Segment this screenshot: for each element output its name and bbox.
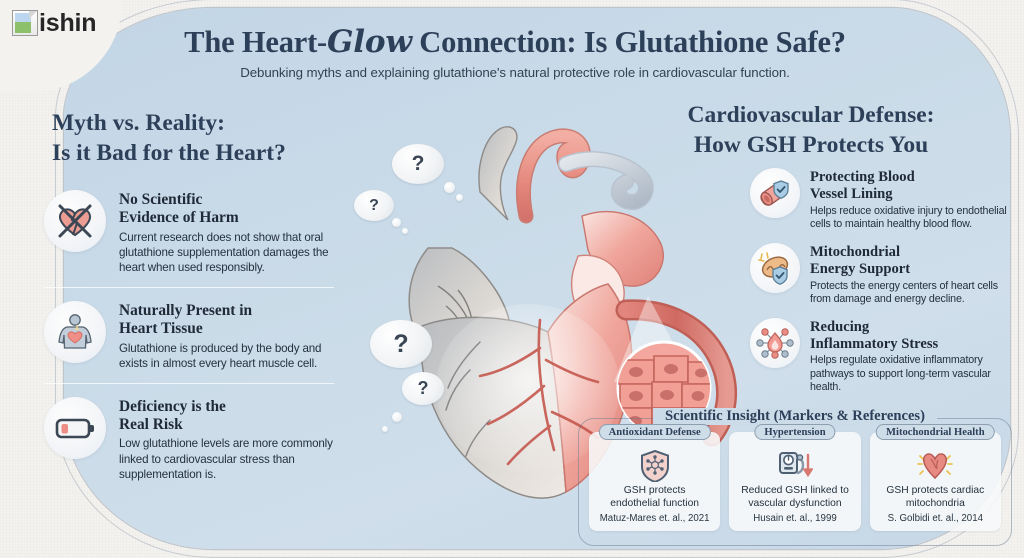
list-item-description: Protects the energy centers of heart cel… (810, 280, 1012, 307)
thought-bubble-dot-4a (392, 412, 402, 422)
thought-bubble-dot-2b (402, 228, 408, 234)
status-badge: Mitochondrial Health (876, 424, 995, 440)
insight-card-text: GSH protects endothelial function (594, 485, 715, 510)
header-block: The Heart-Glow Connection: Is Glutathion… (120, 24, 910, 80)
title-line-1: Protecting Blood (810, 169, 1012, 186)
title-line-2: Real Risk (119, 416, 334, 434)
thought-bubble-dot-4b (382, 426, 388, 432)
title-line-2: Evidence of Harm (119, 209, 334, 227)
card-text-line-1: GSH protects (594, 485, 715, 498)
left-section-heading: Myth vs. Reality: Is it Bad for the Hear… (52, 108, 286, 168)
left-heading-line-1: Myth vs. Reality: (52, 108, 286, 138)
list-item-body: Mitochondrial Energy Support Protects th… (810, 243, 1012, 307)
right-heading-line-1: Cardiovascular Defense: (646, 100, 976, 130)
right-section-heading: Cardiovascular Defense: How GSH Protects… (646, 100, 976, 160)
title-line-1: Mitochondrial (810, 244, 1012, 261)
list-item: Deficiency is the Real Risk Low glutathi… (44, 383, 334, 494)
scientific-insight-panel: Scientific Insight (Markers & References… (578, 418, 1012, 546)
insight-card-reference: Husain et. al., 1999 (734, 513, 855, 524)
cardiovascular-defense-list: Protecting Blood Vessel Lining Helps red… (750, 168, 1012, 406)
insight-card: Antioxidant Defense (589, 432, 720, 531)
list-item-body: Protecting Blood Vessel Lining Helps red… (810, 168, 1012, 232)
title-line-2: Inflammatory Stress (810, 336, 1012, 353)
card-text-line-1: GSH protects cardiac (875, 485, 996, 498)
list-item: No Scientific Evidence of Harm Current r… (44, 190, 334, 287)
list-item-title: Mitochondrial Energy Support (810, 244, 1012, 278)
title-part-2: Connection: Is Glutathione Safe? (412, 25, 846, 59)
shield-molecule-icon (594, 449, 715, 483)
list-item: Reducing Inflammatory Stress Helps regul… (750, 318, 1012, 395)
list-item-title: Naturally Present in Heart Tissue (119, 302, 334, 338)
list-item-title: No Scientific Evidence of Harm (119, 191, 334, 227)
list-item: Mitochondrial Energy Support Protects th… (750, 243, 1012, 307)
card-text-line-1: Reduced GSH linked to (734, 485, 855, 498)
thought-bubble-dot-2a (392, 218, 401, 227)
title-part-1: The Heart- (184, 25, 327, 59)
infographic-canvas: ishin The Heart-Glow Connection: Is Glut… (0, 0, 1024, 557)
blood-pressure-monitor-down-arrow-icon (734, 449, 855, 483)
list-item-title: Protecting Blood Vessel Lining (810, 169, 1012, 203)
insight-card-reference: S. Golbidi et. al., 2014 (875, 513, 996, 524)
insight-card: Hypertension (729, 432, 860, 531)
insight-card-row: Antioxidant Defense (579, 419, 1011, 541)
thought-bubble-1: ? (392, 144, 444, 184)
card-text-line-2: mitochondria (875, 498, 996, 511)
low-battery-icon (44, 397, 106, 459)
left-heading-line-2: Is it Bad for the Heart? (52, 138, 286, 168)
title-line-2: Vessel Lining (810, 186, 1012, 203)
brand-logo[interactable]: ishin (12, 10, 96, 36)
list-item-body: Naturally Present in Heart Tissue Glutat… (119, 301, 334, 371)
mitochondria-shield-icon (750, 243, 800, 293)
list-item-description: Helps regulate oxidative inflammatory pa… (810, 354, 1012, 394)
insight-card-text: Reduced GSH linked to vascular dysfuncti… (734, 485, 855, 510)
list-item-description: Glutathione is produced by the body and … (119, 341, 334, 371)
title-line-2: Energy Support (810, 261, 1012, 278)
inflammation-molecules-icon (750, 318, 800, 368)
thought-bubble-dot-1a (444, 182, 455, 193)
list-item-description: Low glutathione levels are more commonly… (119, 436, 334, 481)
title-line-2: Heart Tissue (119, 320, 334, 338)
page-subtitle: Debunking myths and explaining glutathio… (120, 65, 910, 80)
title-line-1: Naturally Present in (119, 302, 334, 320)
insight-card-text: GSH protects cardiac mitochondria (875, 485, 996, 510)
page-title: The Heart-Glow Connection: Is Glutathion… (120, 24, 910, 60)
thought-bubble-2: ? (354, 190, 394, 221)
list-item-body: Deficiency is the Real Risk Low glutathi… (119, 397, 334, 482)
thought-bubble-4: ? (402, 372, 444, 405)
crossed-out-broken-heart-icon (44, 190, 106, 252)
body-silhouette-with-heart-icon (44, 301, 106, 363)
right-heading-line-2: How GSH Protects You (646, 130, 976, 160)
status-badge: Hypertension (754, 424, 835, 440)
list-item: Protecting Blood Vessel Lining Helps red… (750, 168, 1012, 232)
title-line-1: Deficiency is the (119, 398, 334, 416)
insight-panel-title: Scientific Insight (Markers & References… (653, 408, 937, 425)
status-badge: Antioxidant Defense (599, 424, 711, 440)
broken-image-icon (12, 10, 38, 36)
list-item-description: Current research does not show that oral… (119, 230, 334, 275)
list-item-title: Deficiency is the Real Risk (119, 398, 334, 434)
list-item-title: Reducing Inflammatory Stress (810, 319, 1012, 353)
title-line-1: No Scientific (119, 191, 334, 209)
thought-bubble-3: ? (370, 320, 432, 368)
list-item-body: No Scientific Evidence of Harm Current r… (119, 190, 334, 275)
insight-card-reference: Matuz-Mares et. al., 2021 (594, 513, 715, 524)
thought-bubble-dot-1b (456, 194, 463, 201)
card-text-line-2: vascular dysfunction (734, 498, 855, 511)
brand-name: ishin (39, 11, 96, 36)
list-item-description: Helps reduce oxidative injury to endothe… (810, 205, 1012, 232)
list-item: Naturally Present in Heart Tissue Glutat… (44, 287, 334, 383)
list-item-body: Reducing Inflammatory Stress Helps regul… (810, 318, 1012, 395)
title-word-glow: Glow (327, 24, 412, 60)
insight-card: Mitochondrial Health (870, 432, 1001, 531)
card-text-line-2: endothelial function (594, 498, 715, 511)
myth-reality-list: No Scientific Evidence of Harm Current r… (44, 190, 334, 494)
blood-vessel-shield-icon (750, 168, 800, 218)
title-line-1: Reducing (810, 319, 1012, 336)
energized-heart-icon (875, 449, 996, 483)
